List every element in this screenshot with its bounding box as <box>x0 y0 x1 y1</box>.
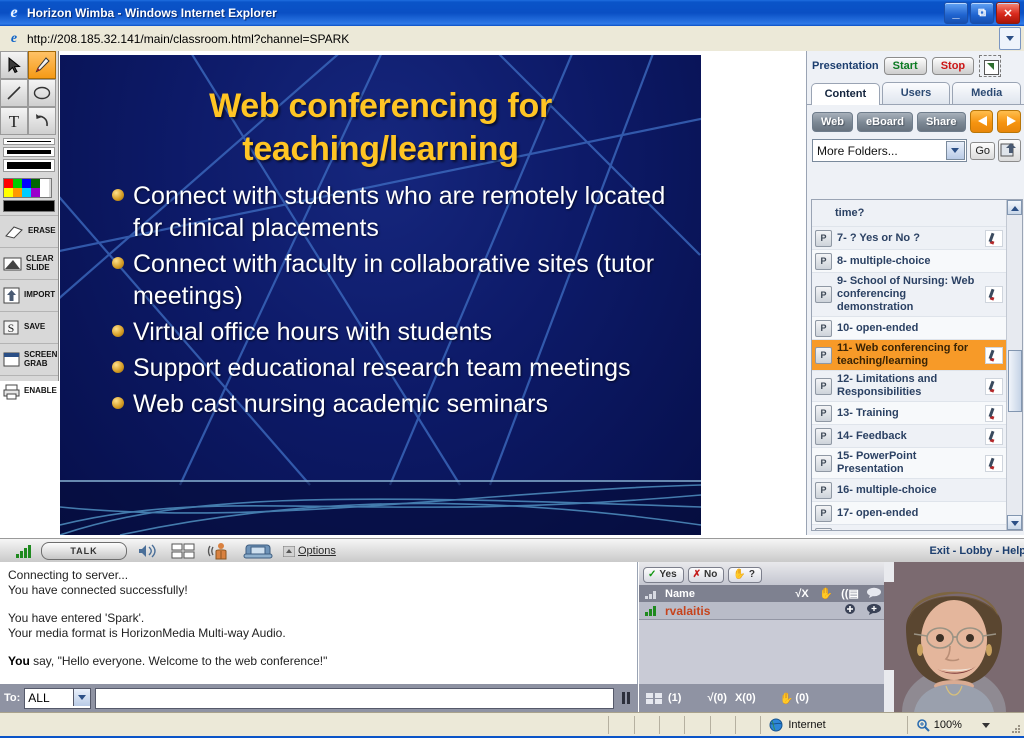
line-width-medium[interactable] <box>3 147 55 157</box>
slide-list-item-label: 17- open-ended <box>837 507 1003 520</box>
cursor-tool[interactable] <box>0 51 28 79</box>
chevron-down-icon[interactable] <box>73 689 90 706</box>
presenter-icon[interactable] <box>207 542 233 560</box>
page-icon: P <box>815 230 832 247</box>
zoom-level-label: 100% <box>934 719 962 731</box>
tab-media[interactable]: Media <box>952 82 1021 104</box>
color-swatch-blue[interactable] <box>22 179 31 188</box>
chat-message: say, "Hello everyone. Welcome to the web… <box>30 654 328 668</box>
page-icon: P <box>815 528 832 532</box>
options-icon <box>283 546 295 557</box>
hand-icon: ✋ <box>733 569 745 580</box>
page-icon: e <box>6 31 22 47</box>
bullet-dot-icon <box>112 189 124 201</box>
chat-message-input[interactable] <box>95 688 614 709</box>
slide-title-line1: Web conferencing for <box>60 85 701 128</box>
share-button[interactable]: Share <box>917 112 966 132</box>
recipient-value: ALL <box>28 691 49 705</box>
presentation-label: Presentation <box>812 60 879 72</box>
color-swatch-red[interactable] <box>4 179 13 188</box>
slide-list-item-label: 13- Training <box>837 407 980 420</box>
slide-list-item-12[interactable]: P 12- Limitations and Responsibilities <box>812 371 1006 402</box>
chat-line: Connecting to server... <box>8 568 629 583</box>
webcam-image <box>884 562 1024 712</box>
slide-list-item-10[interactable]: P 10- open-ended <box>812 317 1006 340</box>
save-button[interactable]: S SAVE <box>0 311 58 343</box>
slide-list-item-label: 8- multiple-choice <box>837 255 1003 268</box>
color-swatch-white[interactable] <box>40 188 49 197</box>
bullet-dot-icon <box>112 257 124 269</box>
slide-list-item-11[interactable]: P 11- Web conferencing for teaching/lear… <box>812 340 1006 371</box>
go-button[interactable]: Go <box>970 142 995 160</box>
color-palette[interactable] <box>3 178 52 198</box>
participant-roster: ✓Yes ✗No ✋? Name √X ✋ ((▤ <box>639 562 884 712</box>
folder-row: More Folders... Go <box>807 137 1024 167</box>
slide-list-item-label: 18- multiple-choice <box>837 530 1003 532</box>
enable-button[interactable]: ENABLE <box>0 375 58 407</box>
options-button[interactable]: Options <box>283 545 336 557</box>
page-icon: P <box>815 347 832 364</box>
page-icon: P <box>815 253 832 270</box>
roster-column-name: Name <box>643 588 788 600</box>
no-button[interactable]: ✗No <box>688 567 725 583</box>
color-swatch-white-top[interactable] <box>40 179 49 188</box>
tab-content[interactable]: Content <box>811 83 880 105</box>
tab-users[interactable]: Users <box>882 82 951 104</box>
slide-title: Web conferencing for teaching/learning <box>60 85 701 171</box>
save-icon: S <box>3 320 21 336</box>
stop-button[interactable]: Stop <box>932 57 974 75</box>
pen-annotation-icon[interactable] <box>985 286 1003 303</box>
clear-slide-icon <box>3 256 23 272</box>
svg-text:T: T <box>9 112 20 131</box>
slide-list-item-label: 16- multiple-choice <box>837 484 1003 497</box>
eboard-button[interactable]: eBoard <box>857 112 913 132</box>
bullet-text: Virtual office hours with students <box>133 316 492 348</box>
slide-list-item-9[interactable]: P 9- School of Nursing: Web conferencing… <box>812 273 1006 317</box>
pen-annotation-icon[interactable] <box>985 230 1003 247</box>
slide-list-item-clipped[interactable]: time? <box>812 200 1006 227</box>
save-label: SAVE <box>24 323 45 332</box>
slide-list-item-label: time? <box>815 207 1003 220</box>
chat-and-roster: Connecting to server... You have connect… <box>0 562 1024 712</box>
zoom-icon[interactable] <box>916 718 930 732</box>
line-tool[interactable] <box>0 79 28 107</box>
line-width-thick[interactable] <box>3 159 55 172</box>
screen-grab-label: SCREENGRAB <box>24 351 57 368</box>
yes-count: √(0) <box>681 692 726 704</box>
roster-header: Name √X ✋ ((▤ <box>639 585 884 602</box>
resize-grip[interactable] <box>1010 723 1022 735</box>
participant-name: rvalaitis <box>643 604 788 618</box>
zoom-dropdown-icon[interactable] <box>982 723 990 728</box>
color-swatch-orange[interactable] <box>13 188 22 197</box>
line-width-thin[interactable] <box>3 138 55 145</box>
signal-meter-icon <box>645 606 656 616</box>
page-content: T <box>0 51 1024 712</box>
talk-button[interactable]: TALK <box>41 542 127 560</box>
upload-icon <box>999 140 1018 159</box>
chat-column-icon <box>864 587 884 601</box>
ie-window: e Horizon Wimba - Windows Internet Explo… <box>0 0 1024 738</box>
pen-annotation-icon[interactable] <box>985 378 1003 395</box>
page-icon: P <box>815 428 832 445</box>
chat-cell[interactable] <box>864 603 884 618</box>
webcam-video[interactable] <box>884 562 1024 712</box>
folder-select[interactable]: More Folders... <box>812 139 967 162</box>
slide-list-item-label: 7- ? Yes or No ? <box>837 232 980 245</box>
chat-line-self: You say, "Hello everyone. Welcome to the… <box>8 654 629 669</box>
screen-grab-icon <box>3 351 21 368</box>
hand-icon: ✋ <box>780 692 794 705</box>
eraser-icon <box>3 224 25 240</box>
page-icon: P <box>815 286 832 303</box>
import-label: IMPORT <box>24 291 55 300</box>
slide-bullet: Connect with students who are remotely l… <box>112 180 679 244</box>
page-icon: P <box>815 378 832 395</box>
audio-cell[interactable] <box>840 603 860 618</box>
slide-list-item-label: 15- PowerPoint Presentation <box>837 450 980 476</box>
window-buttons: _ ⧉ ✕ <box>944 2 1024 24</box>
printer-icon <box>3 383 21 400</box>
folder-select-value: More Folders... <box>817 144 898 158</box>
yes-label: Yes <box>659 569 676 580</box>
hand-column-icon: ✋ <box>816 587 836 600</box>
slide-bullet: Web cast nursing academic seminars <box>112 388 679 420</box>
slide-list-item-17[interactable]: P 17- open-ended <box>812 502 1006 525</box>
screen-grab-button[interactable]: SCREENGRAB <box>0 343 58 375</box>
exit-lobby-help-links[interactable]: Exit - Lobby - Help <box>929 545 1024 557</box>
erase-label: ERASE <box>28 227 56 236</box>
color-swatch-yellow[interactable] <box>4 188 13 197</box>
security-zone-label: Internet <box>788 719 825 731</box>
next-slide-button[interactable] <box>997 110 1021 133</box>
pen-annotation-icon[interactable] <box>985 455 1003 472</box>
pen-annotation-icon[interactable] <box>985 347 1003 364</box>
audio-control-bar: TALK <box>0 538 1024 564</box>
yes-button[interactable]: ✓Yes <box>643 567 684 583</box>
previous-slide-button[interactable] <box>970 110 994 133</box>
hand-count: (0) <box>795 692 808 704</box>
bullet-text: Web cast nursing academic seminars <box>133 388 548 420</box>
speaker-icon[interactable] <box>137 543 161 559</box>
color-swatch-purple[interactable] <box>31 188 40 197</box>
page-icon: P <box>815 455 832 472</box>
color-swatch-darkgreen[interactable] <box>31 179 40 188</box>
internet-explorer-icon: e <box>5 4 23 22</box>
scrollbar-thumb[interactable] <box>1008 350 1022 412</box>
grid-icon[interactable] <box>171 543 197 559</box>
bullet-text: Connect with students who are remotely l… <box>133 180 679 244</box>
no-label: No <box>704 569 717 580</box>
pause-button[interactable] <box>618 689 634 708</box>
page-icon: P <box>815 482 832 499</box>
page-icon: P <box>815 505 832 522</box>
roster-response-buttons: ✓Yes ✗No ✋? <box>639 562 884 585</box>
web-button[interactable]: Web <box>812 112 853 132</box>
slide-list-item-14[interactable]: P 14- Feedback <box>812 425 1006 448</box>
enable-label: ENABLE <box>24 387 57 396</box>
presentation-slide[interactable]: Web conferencing for teaching/learning C… <box>60 55 701 535</box>
chat-line: Your media format is HorizonMedia Multi-… <box>8 626 629 641</box>
slide-list-item-16[interactable]: P 16- multiple-choice <box>812 479 1006 502</box>
slide-list-item-8[interactable]: P 8- multiple-choice <box>812 250 1006 273</box>
chat-log: Connecting to server... You have connect… <box>0 562 638 684</box>
chevron-down-icon[interactable] <box>946 141 965 160</box>
page-icon: P <box>815 405 832 422</box>
drawing-toolbar: T <box>0 51 59 381</box>
import-button[interactable]: IMPORT <box>0 279 58 311</box>
slide-bullet: Virtual office hours with students <box>112 316 679 348</box>
participant-count: (1) <box>668 692 681 704</box>
check-cross-column-icon: √X <box>792 588 812 600</box>
slide-list-item-label: 9- School of Nursing: Web conferencing d… <box>837 275 980 314</box>
ellipse-tool[interactable] <box>28 79 56 107</box>
slide-list-item-label: 14- Feedback <box>837 430 980 443</box>
svg-text:S: S <box>8 321 15 335</box>
slide-bullet: Connect with faculty in collaborative si… <box>112 248 679 312</box>
slide-bullet: Support educational research team meetin… <box>112 352 679 384</box>
globe-icon <box>769 718 783 732</box>
import-icon <box>3 287 21 304</box>
slide-title-line2: teaching/learning <box>60 128 701 171</box>
signal-meter-icon <box>16 545 31 558</box>
chat-line: You have entered 'Spark'. <box>8 611 629 626</box>
clear-slide-label: CLEARSLIDE <box>26 255 54 272</box>
mode-buttons: Web eBoard Share <box>807 105 1024 137</box>
start-button[interactable]: Start <box>884 57 927 75</box>
bullet-dot-icon <box>112 361 124 373</box>
window-title-bar: e Horizon Wimba - Windows Internet Explo… <box>0 0 1024 27</box>
chat-input-row: To: ALL <box>0 684 638 712</box>
chat-line: You have connected successfully! <box>8 583 629 598</box>
slide-list-scrollbar[interactable] <box>1006 200 1022 530</box>
slide-list-item-13[interactable]: P 13- Training <box>812 402 1006 425</box>
close-button[interactable]: ✕ <box>996 2 1020 24</box>
pen-annotation-icon[interactable] <box>985 405 1003 422</box>
bullet-dot-icon <box>112 325 124 337</box>
restore-button[interactable]: ⧉ <box>970 2 994 24</box>
minimize-button[interactable]: _ <box>944 2 968 24</box>
hand-label: ? <box>749 569 755 580</box>
slide-bullets: Connect with students who are remotely l… <box>112 180 679 424</box>
color-swatch-green[interactable] <box>13 179 22 188</box>
raise-hand-button[interactable]: ✋? <box>728 567 762 583</box>
slide-list-item-label: 11- Web conferencing for teaching/learni… <box>837 342 980 368</box>
slide-list-item-label: 12- Limitations and Responsibilities <box>837 373 980 399</box>
scroll-down-icon[interactable] <box>1007 515 1022 530</box>
pop-out-window-button[interactable] <box>979 55 1001 77</box>
erase-button[interactable]: ERASE <box>0 215 58 247</box>
undo-tool[interactable] <box>28 107 56 135</box>
roster-status-bar: (1) √(0) X(0) ✋ (0) <box>639 684 884 712</box>
slide-list-item-15[interactable]: P 15- PowerPoint Presentation <box>812 448 1006 479</box>
pen-annotation-icon[interactable] <box>985 428 1003 445</box>
address-dropdown-icon[interactable] <box>999 27 1021 50</box>
text-tool[interactable]: T <box>0 107 28 135</box>
recipient-select[interactable]: ALL <box>24 688 91 709</box>
scroll-up-icon[interactable] <box>1007 200 1022 215</box>
address-input[interactable]: http://208.185.32.141/main/classroom.htm… <box>27 32 999 46</box>
pen-tool[interactable] <box>28 51 56 79</box>
bullet-text: Support educational research team meetin… <box>133 352 631 384</box>
line-width-picker[interactable] <box>0 135 58 176</box>
current-color-indicator <box>3 200 55 212</box>
options-label: Options <box>298 545 336 557</box>
page-icon: P <box>815 320 832 337</box>
telephone-icon[interactable] <box>243 541 273 561</box>
no-count: X(0) <box>727 692 756 704</box>
slide-list-item-18[interactable]: P 18- multiple-choice <box>812 525 1006 531</box>
to-label: To: <box>4 692 20 704</box>
presentation-panel: Presentation Start Stop Content Users Me… <box>806 51 1024 535</box>
signal-meter-icon <box>645 589 656 599</box>
presentation-controls: Presentation Start Stop <box>807 51 1024 79</box>
browser-status-bar: Internet 100% <box>0 712 1024 737</box>
panel-tabs: Content Users Media <box>807 79 1024 105</box>
slide-list-item-7[interactable]: P 7- ? Yes or No ? <box>812 227 1006 250</box>
slide-list[interactable]: time? P 7- ? Yes or No ? P 8- multiple-c… <box>811 199 1023 531</box>
audio-column-icon: ((▤ <box>840 587 860 600</box>
bullet-dot-icon <box>112 397 124 409</box>
upload-button[interactable] <box>998 139 1021 162</box>
slide-list-item-label: 10- open-ended <box>837 322 1003 335</box>
bullet-text: Connect with faculty in collaborative si… <box>133 248 679 312</box>
chat-speaker: You <box>8 654 30 668</box>
clear-slide-button[interactable]: CLEARSLIDE <box>0 247 58 279</box>
roster-row[interactable]: rvalaitis <box>639 602 884 620</box>
participants-icon <box>645 692 665 705</box>
color-swatch-cyan[interactable] <box>22 188 31 197</box>
window-title: Horizon Wimba - Windows Internet Explore… <box>27 6 944 20</box>
address-bar[interactable]: e http://208.185.32.141/main/classroom.h… <box>0 26 1024 52</box>
